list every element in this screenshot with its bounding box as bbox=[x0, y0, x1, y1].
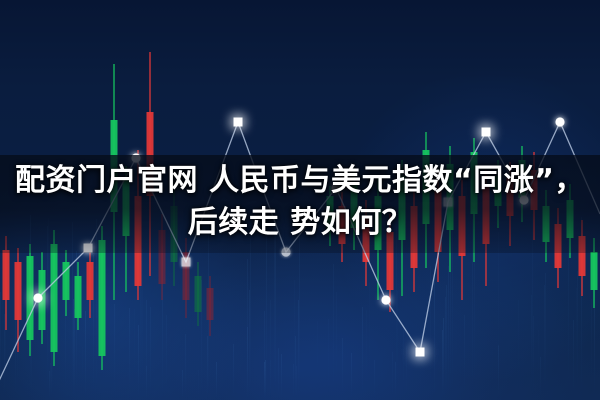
banner-image: 配资门户官网 人民币与美元指数“同涨”，后续走 势如何？ bbox=[0, 0, 600, 400]
page-title: 配资门户官网 人民币与美元指数“同涨”，后续走 势如何？ bbox=[0, 160, 600, 244]
headline-line-2: 势如何？ bbox=[290, 205, 412, 240]
